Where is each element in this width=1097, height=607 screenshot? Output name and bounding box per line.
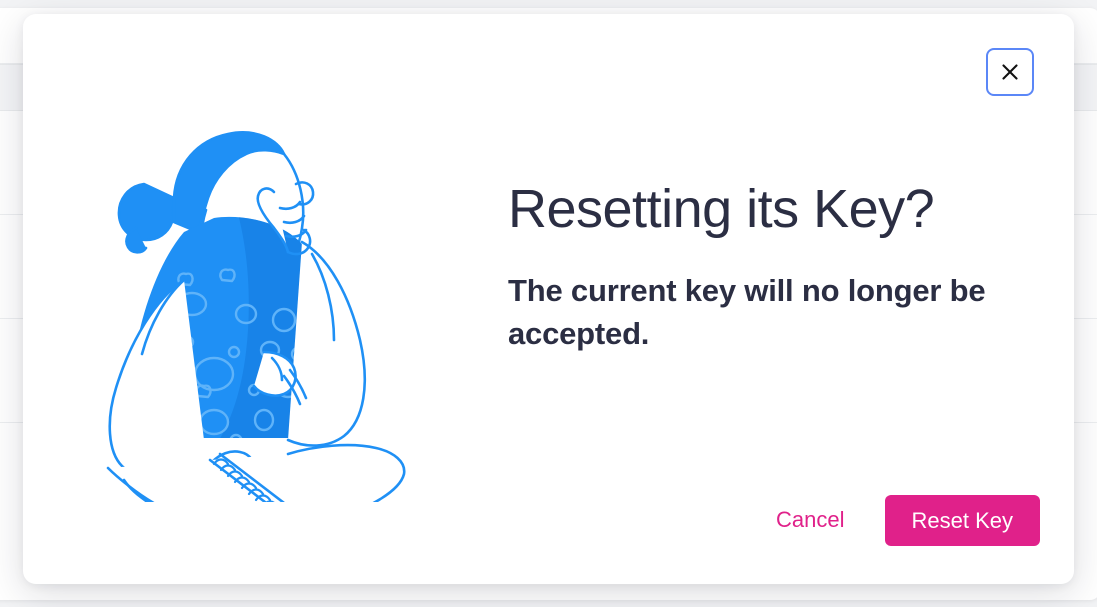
cancel-button[interactable]: Cancel	[774, 501, 846, 539]
person-thinking-with-notebook-illustration	[23, 96, 493, 502]
modal-body: Resetting its Key? The current key will …	[23, 14, 1074, 584]
modal-overlay: Resetting its Key? The current key will …	[0, 0, 1097, 607]
modal-content: Resetting its Key? The current key will …	[493, 14, 1040, 584]
reset-key-confirmation-modal: Resetting its Key? The current key will …	[23, 14, 1074, 584]
modal-title: Resetting its Key?	[508, 180, 934, 239]
reset-key-button[interactable]: Reset Key	[885, 495, 1041, 546]
modal-actions: Cancel Reset Key	[774, 495, 1040, 546]
modal-subtitle: The current key will no longer be accept…	[508, 270, 1018, 356]
